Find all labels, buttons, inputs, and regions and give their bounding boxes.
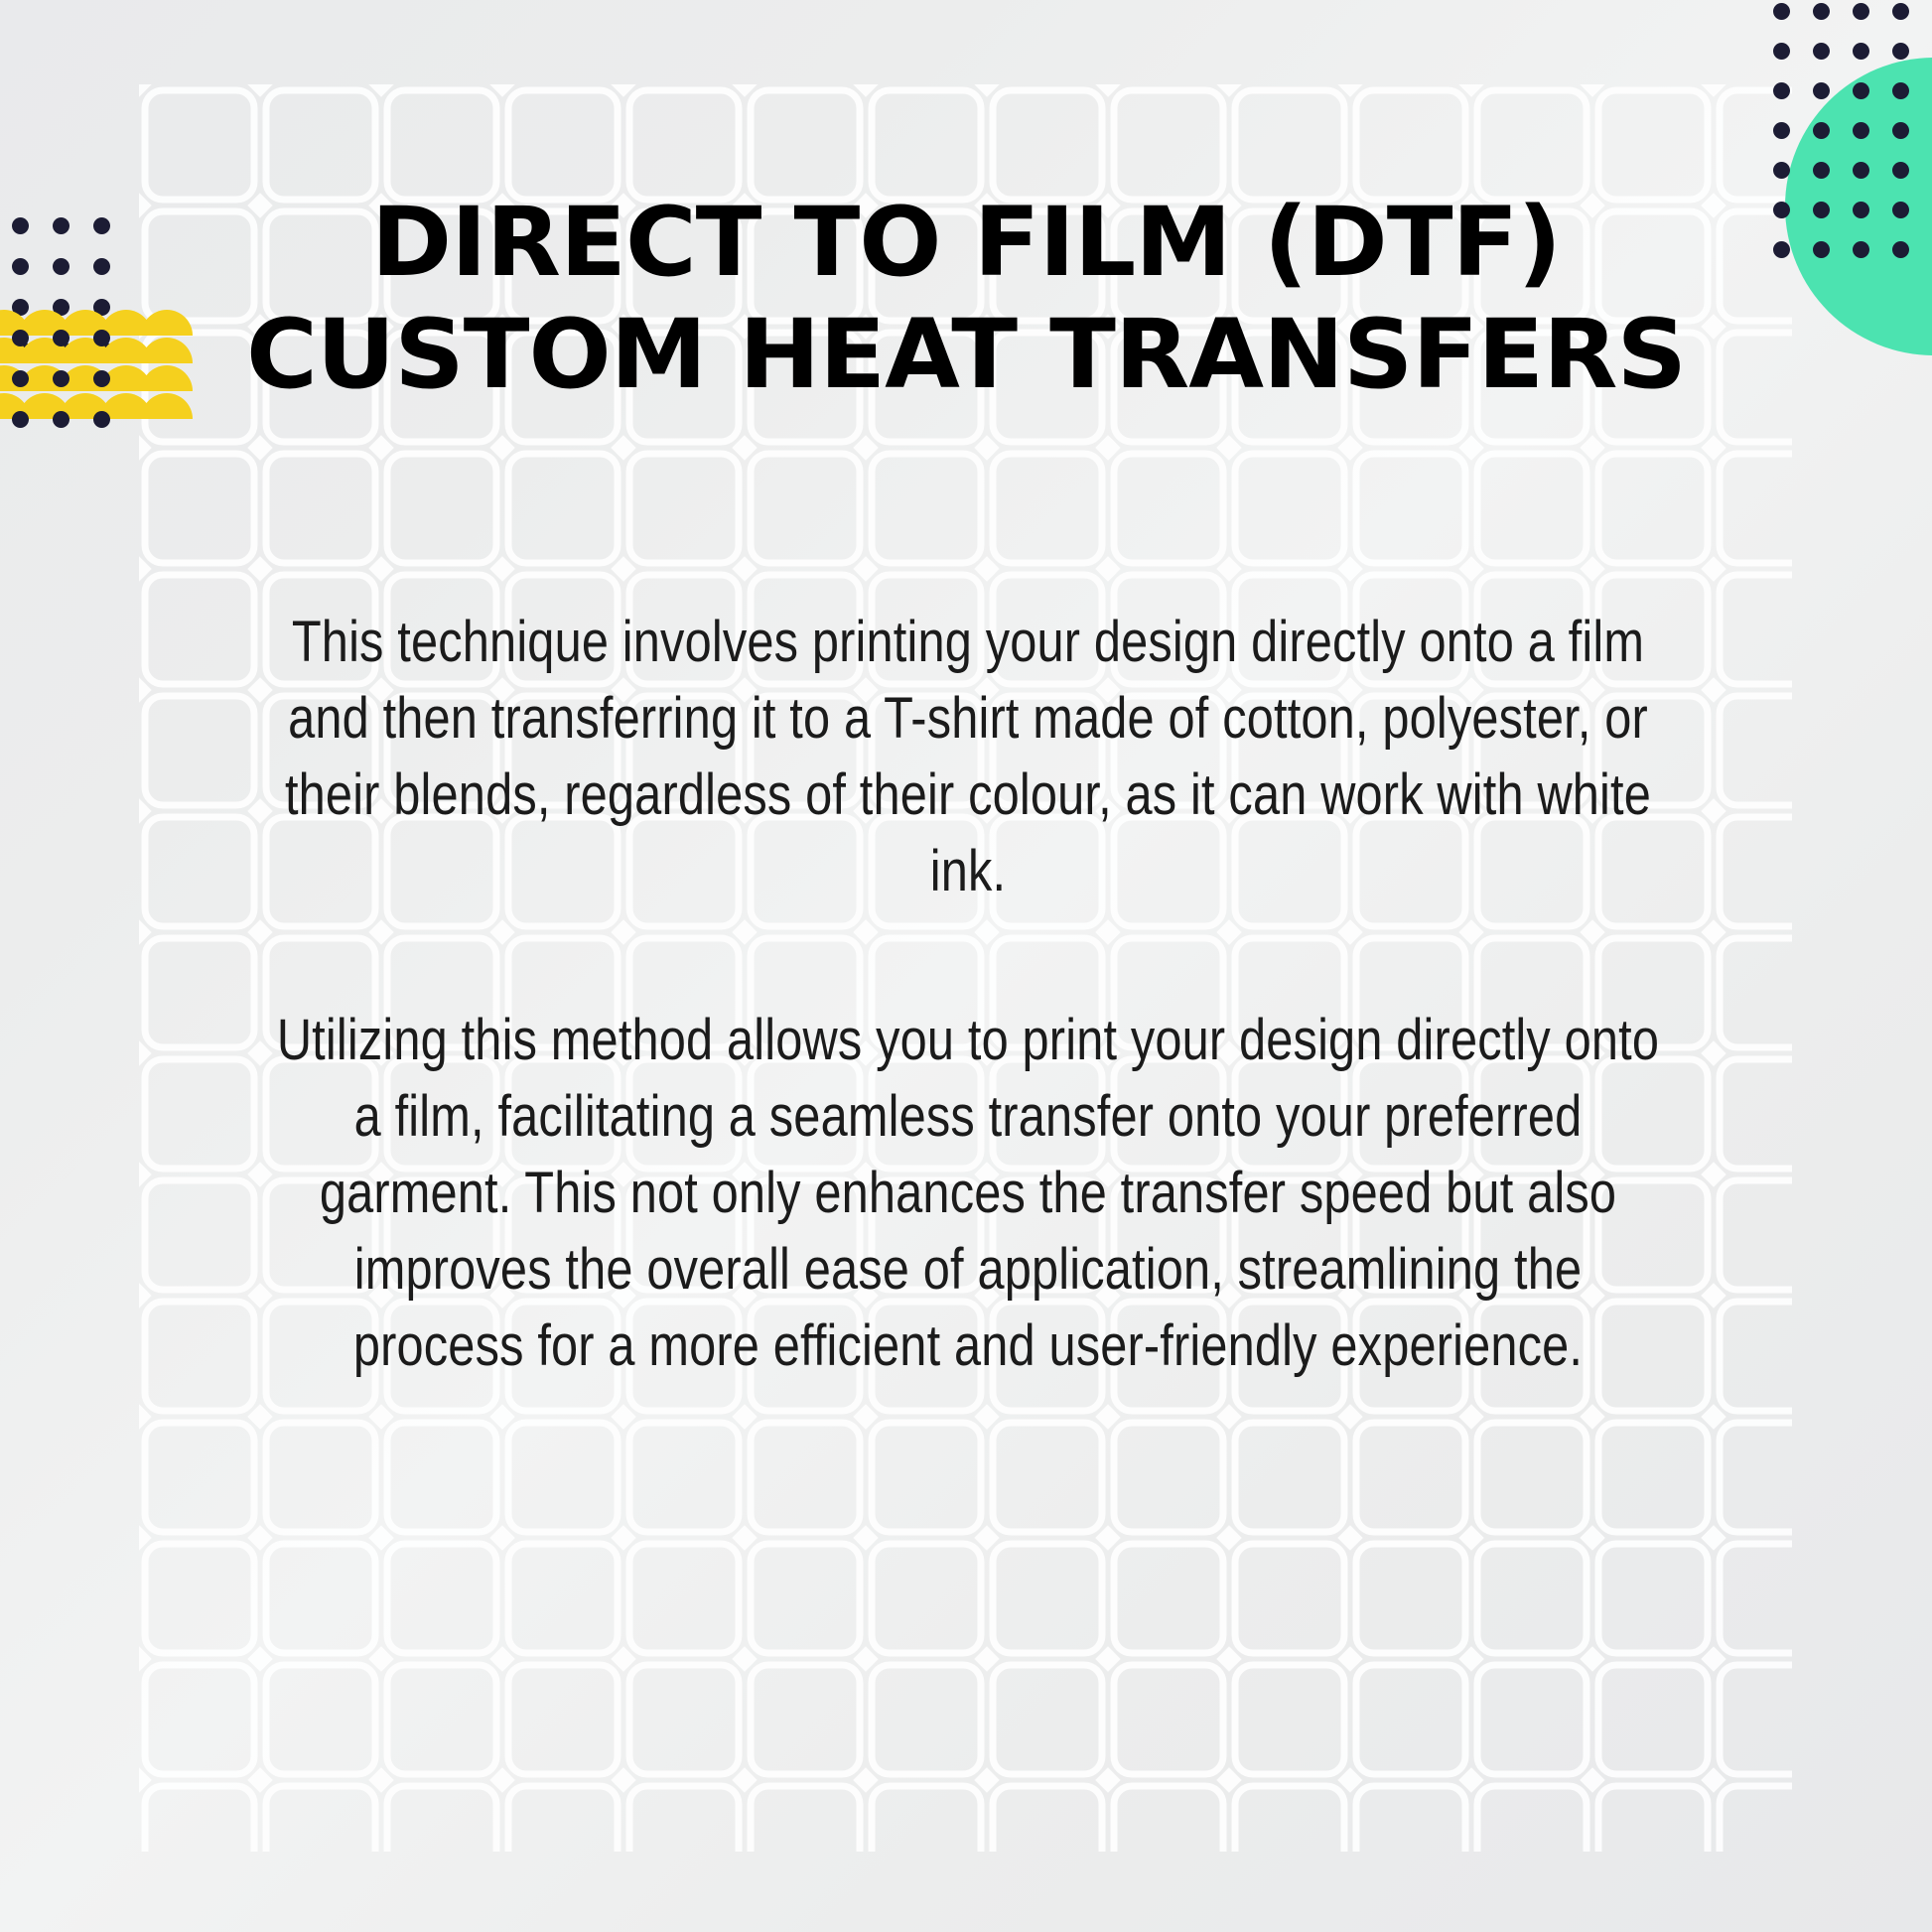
paragraph-1: This technique involves printing your de… (263, 604, 1673, 910)
paragraph-2: Utilizing this method allows you to prin… (263, 1002, 1673, 1385)
poster-canvas: DIRECT TO FILM (DTF) CUSTOM HEAT TRANSFE… (0, 0, 1932, 1932)
page-title: DIRECT TO FILM (DTF) CUSTOM HEAT TRANSFE… (163, 187, 1769, 412)
poster-content: DIRECT TO FILM (DTF) CUSTOM HEAT TRANSFE… (0, 0, 1932, 1932)
body-copy: This technique involves printing your de… (129, 604, 1807, 1384)
title-line-1: DIRECT TO FILM (DTF) (371, 187, 1561, 298)
title-line-2: CUSTOM HEAT TRANSFERS (246, 299, 1686, 410)
